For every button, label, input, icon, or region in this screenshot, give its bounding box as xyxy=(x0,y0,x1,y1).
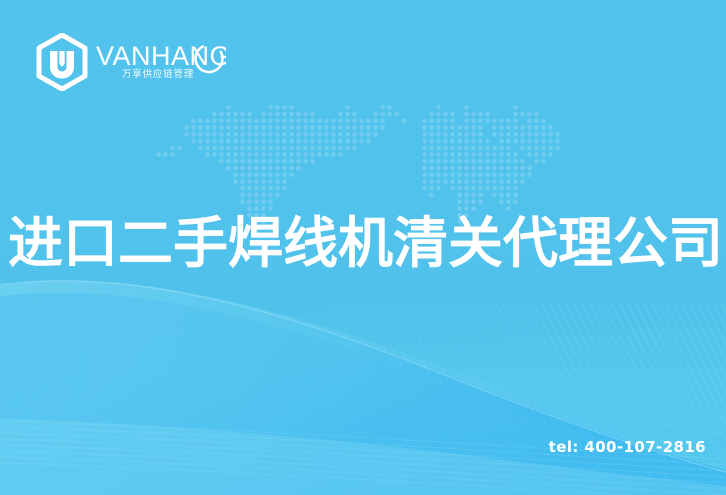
contact-phone[interactable]: tel: 400-107-2816 xyxy=(549,438,706,456)
logo-wordmark-text: VANHANG xyxy=(96,41,226,71)
logo-subtitle-text: 万享供应链管理 xyxy=(122,68,194,80)
promo-banner: VANHANG 万享供应链管理 进口二手焊线机清关代理公司 tel: 400-1… xyxy=(0,0,726,495)
logo-wordmark: VANHANG 万享供应链管理 xyxy=(96,39,226,85)
hexagon-u-mark-icon xyxy=(34,33,90,91)
page-title: 进口二手焊线机清关代理公司 xyxy=(8,212,722,274)
company-logo[interactable]: VANHANG 万享供应链管理 xyxy=(34,33,226,91)
